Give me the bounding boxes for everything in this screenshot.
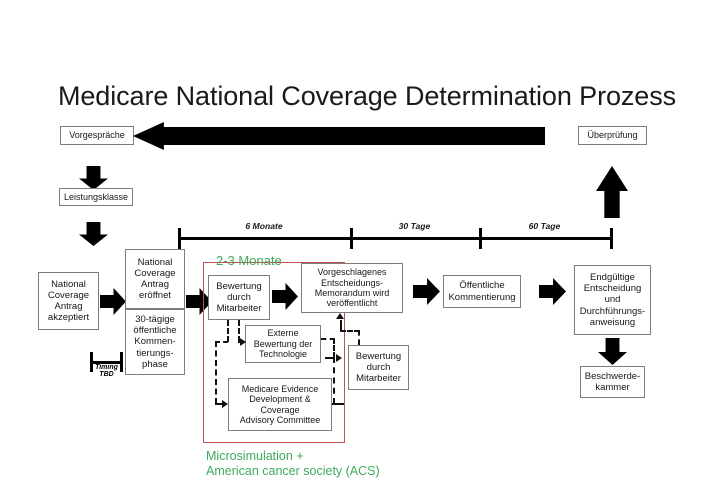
box-ueberpruefung[interactable]: Überprüfung: [578, 126, 647, 145]
arrowhead-into-medcac: [222, 400, 228, 408]
box-externe-bewertung-line-2: Technologie: [259, 349, 307, 359]
box-endgueltige-line-1: Entscheidung: [584, 283, 642, 294]
footnote-line-1: Microsimulation +: [206, 449, 304, 465]
box-bewertung-2-line-1: durch: [367, 362, 391, 373]
box-endgueltige-line-0: Endgültige: [590, 272, 635, 283]
slide-canvas: Medicare National Coverage Determination…: [0, 0, 702, 496]
box-bewertung-mitarbeiter-1[interactable]: Bewertung durch Mitarbeiter: [208, 275, 270, 320]
box-vorgespraeche[interactable]: Vorgespräche: [60, 126, 134, 145]
timeline-label-1: 30 Tage: [350, 221, 479, 231]
box-externe-bewertung-line-1: Bewertung der: [254, 339, 313, 349]
box-memorandum-line-2: Memorandum wird: [315, 288, 390, 298]
box-oeffentliche-kommentierung[interactable]: Öffentliche Kommentierung: [443, 275, 521, 308]
dashed-up-v-1: [358, 330, 360, 345]
box-kommentierung-line-0: Öffentliche: [459, 280, 504, 291]
box-antrag-eroeffnet-line-2: Antrag: [141, 279, 169, 290]
dashed-up-h-1: [340, 330, 360, 332]
box-endgueltige-line-4: anweisung: [590, 317, 635, 328]
box-kommentierungsphase-line-1: öffentliche: [133, 325, 176, 336]
dashed-right-v-2: [333, 357, 335, 404]
box-kommentierungsphase[interactable]: 30-tägige öffentliche Kommen- tierungs- …: [125, 309, 185, 375]
box-kommentierungsphase-line-4: phase: [142, 359, 168, 370]
box-leistungsklasse[interactable]: Leistungsklasse: [59, 188, 133, 206]
box-memorandum-line-1: Entscheidungs-: [321, 278, 383, 288]
box-bewertung-2-line-0: Bewertung: [356, 351, 401, 362]
arrow-down-to-process: [79, 222, 108, 246]
timing-label-line-0: Timing: [95, 364, 118, 371]
box-antrag-eroeffnet[interactable]: National Coverage Antrag eröffnet: [125, 249, 185, 309]
box-kommentierungsphase-line-3: tierungs-: [137, 348, 174, 359]
box-endgueltige-line-3: Durchführungs-: [580, 306, 645, 317]
box-ueberpruefung-label: Überprüfung: [587, 130, 637, 140]
footnote-line-2: American cancer society (ACS): [206, 464, 380, 480]
dashed-right-h-3: [332, 403, 344, 405]
timeline-tick-2: [479, 228, 482, 249]
timeline-axis: [178, 237, 613, 240]
box-endgueltige-line-2: und: [605, 294, 621, 305]
box-memorandum-line-0: Vorgeschlagenes: [317, 267, 386, 277]
box-bewertung-mitarbeiter-2[interactable]: Bewertung durch Mitarbeiter: [348, 345, 409, 390]
timing-label-line-1: TBD: [99, 371, 113, 378]
box-medcac-line-0: Medicare Evidence: [242, 384, 319, 394]
box-antrag-eroeffnet-line-1: Coverage: [134, 268, 175, 279]
box-antrag-akzeptiert-line-1: Coverage: [48, 290, 89, 301]
arrow-down-to-beschwerdekammer: [598, 338, 627, 365]
box-medcac[interactable]: Medicare Evidence Development & Coverage…: [228, 378, 332, 431]
box-medcac-line-2: Coverage: [260, 405, 299, 415]
arrow-akzeptiert-to-eroeffnet: [100, 288, 126, 315]
dashed-right-v-1: [333, 338, 335, 358]
timeline-tick-1: [350, 228, 353, 249]
box-bewertung-2-line-2: Mitarbeiter: [356, 373, 401, 384]
dashed-bus-v: [215, 341, 217, 404]
box-beschwerdekammer[interactable]: Beschwerde- kammer: [580, 366, 645, 398]
arrowhead-into-externe: [240, 338, 246, 346]
box-kommentierung-line-1: Kommentierung: [448, 292, 515, 303]
arrow-up-to-ueberpruefung: [596, 166, 628, 218]
dashed-connector-a: [227, 320, 229, 342]
box-beschwerdekammer-line-0: Beschwerde-: [585, 371, 640, 382]
box-antrag-akzeptiert[interactable]: National Coverage Antrag akzeptiert: [38, 272, 99, 330]
box-externe-bewertung[interactable]: Externe Bewertung der Technologie: [245, 325, 321, 363]
box-beschwerdekammer-line-1: kammer: [595, 382, 629, 393]
timing-tbd-label: Timing TBD: [84, 364, 129, 379]
box-antrag-eroeffnet-line-0: National: [138, 257, 173, 268]
box-memorandum-line-3: veröffentlicht: [327, 298, 378, 308]
banner-arrow-left: [133, 122, 545, 150]
box-kommentierungsphase-line-2: Kommen-: [134, 336, 175, 347]
arrow-memorandum-to-kommentierung: [413, 278, 440, 305]
phase-label-2-3-monate: 2-3 Monate: [216, 253, 282, 269]
page-title: Medicare National Coverage Determination…: [58, 76, 668, 116]
timeline-label-0: 6 Monate: [178, 221, 350, 231]
arrow-kommentierung-to-endgueltige: [539, 278, 566, 305]
box-bewertung-1-line-0: Bewertung: [216, 281, 261, 292]
arrowhead-into-memorandum: [336, 313, 344, 319]
box-medcac-line-3: Advisory Committee: [240, 415, 321, 425]
box-antrag-eroeffnet-line-3: eröffnet: [139, 290, 171, 301]
dashed-up-v-2: [340, 320, 342, 331]
timeline-tick-0: [178, 228, 181, 249]
timeline-tick-3: [610, 228, 613, 249]
box-antrag-akzeptiert-line-0: National: [51, 279, 86, 290]
box-vorgespraeche-label: Vorgespräche: [69, 130, 125, 140]
box-antrag-akzeptiert-line-2: Antrag: [55, 301, 83, 312]
box-bewertung-1-line-1: durch: [227, 292, 251, 303]
box-leistungsklasse-label: Leistungsklasse: [64, 192, 128, 202]
timeline-label-2: 60 Tage: [479, 221, 610, 231]
box-memorandum[interactable]: Vorgeschlagenes Entscheidungs- Memorandu…: [301, 263, 403, 313]
box-externe-bewertung-line-0: Externe: [267, 328, 298, 338]
arrow-down-to-leistungsklasse: [79, 166, 108, 190]
box-bewertung-1-line-2: Mitarbeiter: [217, 303, 262, 314]
box-endgueltige-entscheidung[interactable]: Endgültige Entscheidung und Durchführung…: [574, 265, 651, 335]
box-antrag-akzeptiert-line-3: akzeptiert: [48, 312, 89, 323]
box-medcac-line-1: Development &: [249, 394, 311, 404]
arrowhead-into-bewertung-2: [336, 354, 342, 362]
box-kommentierungsphase-line-0: 30-tägige: [135, 314, 175, 325]
